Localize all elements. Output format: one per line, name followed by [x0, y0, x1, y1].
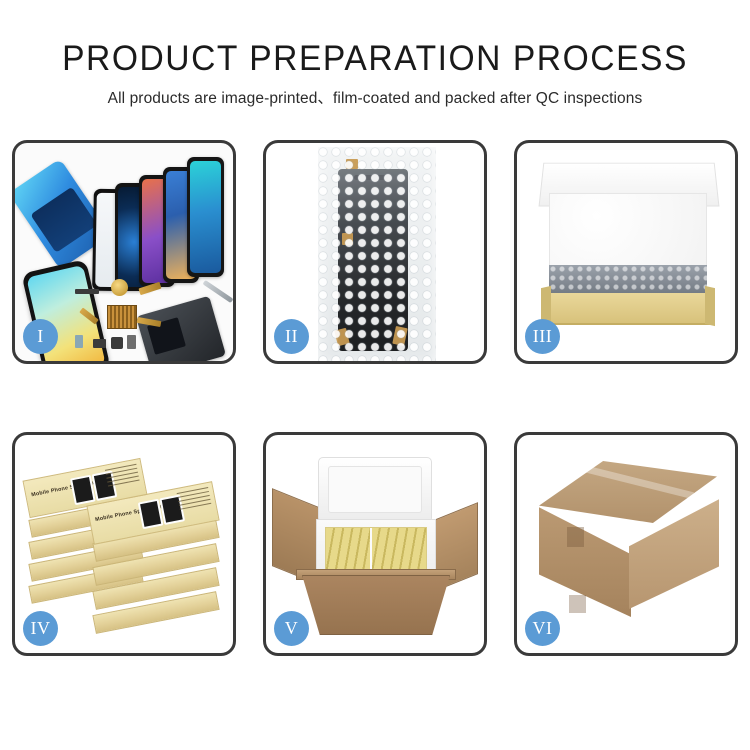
- step-badge-5: V: [274, 611, 309, 646]
- step-badge-3: III: [525, 319, 560, 354]
- process-step-4[interactable]: Mobile Phone Spare Parts Mobile Phone Sp…: [12, 432, 236, 656]
- foam-sheet-icon: [549, 193, 707, 269]
- process-step-2[interactable]: II: [263, 140, 487, 364]
- process-step-1[interactable]: I: [12, 140, 236, 364]
- carton-body-icon: [302, 575, 450, 635]
- styrofoam-lid-icon: [318, 457, 432, 523]
- carton-tab-upper-icon: [567, 527, 584, 547]
- process-step-5[interactable]: V: [263, 432, 487, 656]
- bubble-texture: [318, 147, 436, 361]
- kraft-tray-icon: [545, 293, 711, 325]
- packed-boxes-icon: [325, 527, 427, 573]
- page-title: PRODUCT PREPARATION PROCESS: [15, 38, 735, 80]
- page-subtitle: All products are image-printed、film-coat…: [0, 86, 750, 108]
- bubble-wrap-bag-icon: [318, 147, 436, 361]
- phone-display-5-icon: [187, 157, 224, 277]
- small-part-3-icon: [111, 337, 123, 349]
- header: PRODUCT PREPARATION PROCESS All products…: [0, 38, 750, 108]
- step-badge-4: IV: [23, 611, 58, 646]
- step-badge-6: VI: [525, 611, 560, 646]
- label-feature-lines-top: [105, 464, 140, 490]
- label-feature-lines-second: [177, 487, 212, 513]
- step-badge-1: I: [23, 319, 58, 354]
- process-step-grid: I II III: [12, 140, 738, 680]
- small-part-5-icon: [75, 335, 83, 348]
- product-preparation-process-page: PRODUCT PREPARATION PROCESS All products…: [0, 0, 750, 750]
- connector-grid-icon: [107, 305, 137, 329]
- small-part-4-icon: [127, 335, 136, 349]
- carton-tab-lower-icon: [569, 595, 586, 613]
- logic-board-icon: [136, 296, 226, 361]
- speaker-coil-icon: [111, 279, 128, 296]
- small-part-1-icon: [75, 289, 99, 294]
- step-badge-2: II: [274, 319, 309, 354]
- small-part-2-icon: [93, 339, 106, 348]
- process-step-3[interactable]: III: [514, 140, 738, 364]
- process-step-6[interactable]: VI: [514, 432, 738, 656]
